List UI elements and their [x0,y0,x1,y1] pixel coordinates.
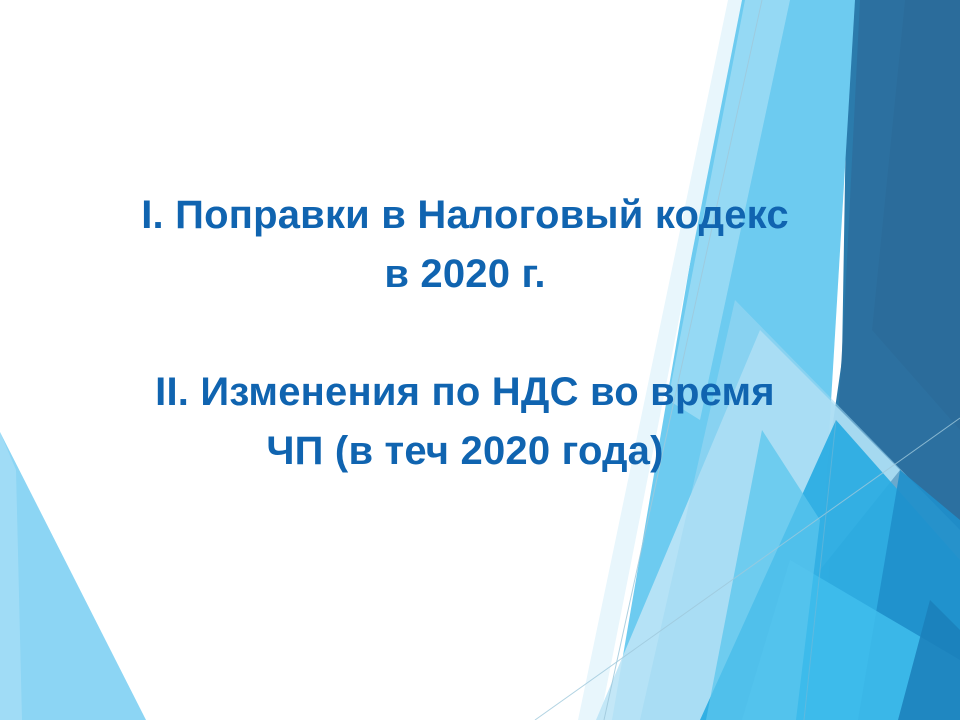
facet-accent-corner [898,600,960,720]
facet-left-wedge-highlight [0,432,22,720]
facet-bright-bottom [742,560,960,720]
slide-canvas: I. Поправки в Налоговый кодекс в 2020 г.… [0,0,960,720]
title-line-spacer [52,304,878,363]
title-line-4: ЧП (в теч 2020 года) [52,422,878,481]
title-line-3: II. Изменения по НДС во время [52,363,878,422]
title-text-block: I. Поправки в Налоговый кодекс в 2020 г.… [52,186,878,481]
facet-medium-right [858,470,960,720]
title-line-1: I. Поправки в Налоговый кодекс [52,186,878,245]
facet-darkest-corner [872,0,960,430]
title-line-2: в 2020 г. [52,245,878,304]
